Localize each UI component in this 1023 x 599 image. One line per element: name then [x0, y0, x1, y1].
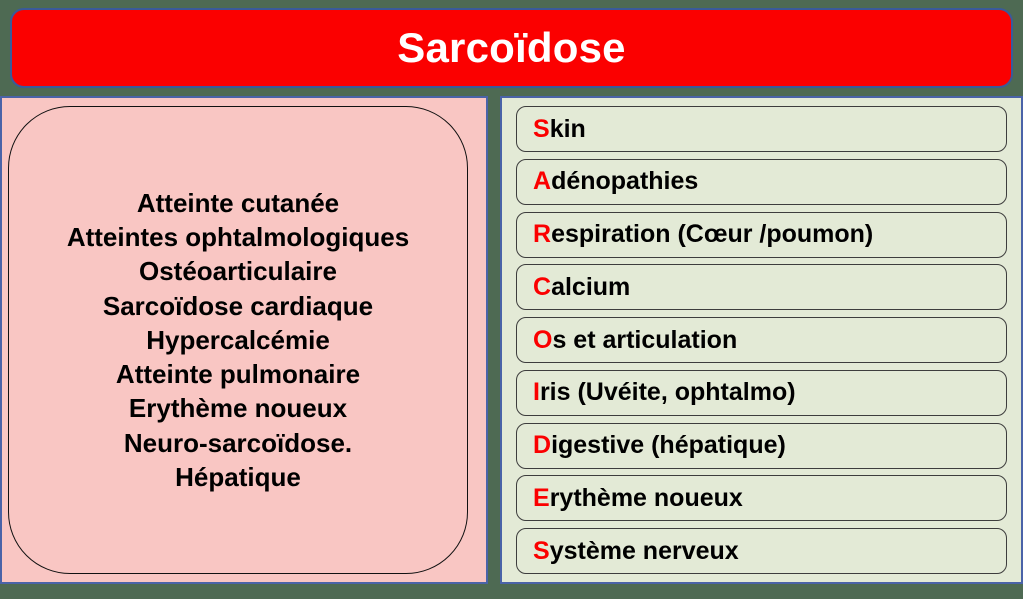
mnemonic-rest: kin — [550, 115, 586, 143]
mnemonic-rest: rythème noueux — [550, 484, 743, 512]
list-item: Atteinte pulmonaire — [116, 357, 360, 391]
mnemonic-label: Digestive (hépatique) — [533, 433, 786, 458]
symptoms-list: Atteinte cutanée Atteintes ophtalmologiq… — [2, 98, 486, 582]
mnemonic-item-skin: Skin — [516, 106, 1007, 152]
list-item: Ostéoarticulaire — [139, 254, 337, 288]
mnemonic-label: Respiration (Cœur /poumon) — [533, 222, 873, 247]
mnemonic-initial: A — [533, 167, 551, 195]
mnemonic-label: Système nerveux — [533, 539, 739, 564]
symptoms-panel: Atteinte cutanée Atteintes ophtalmologiq… — [0, 96, 488, 584]
list-item: Sarcoïdose cardiaque — [103, 289, 373, 323]
mnemonic-label: Os et articulation — [533, 328, 737, 353]
mnemonic-rest: espiration (Cœur /poumon) — [551, 220, 873, 248]
slide: Sarcoïdose Atteinte cutanée Atteintes op… — [0, 0, 1023, 599]
mnemonic-initial: S — [533, 115, 550, 143]
mnemonic-rest: ystème nerveux — [550, 537, 739, 565]
mnemonic-initial: C — [533, 273, 551, 301]
mnemonic-label: Adénopathies — [533, 169, 698, 194]
mnemonic-rest: ris (Uvéite, ophtalmo) — [540, 378, 796, 406]
mnemonic-item-systeme-nerveux: Système nerveux — [516, 528, 1007, 574]
mnemonic-initial: R — [533, 220, 551, 248]
mnemonic-item-iris: Iris (Uvéite, ophtalmo) — [516, 370, 1007, 416]
list-item: Atteinte cutanée — [137, 186, 339, 220]
list-item: Atteintes ophtalmologiques — [67, 220, 409, 254]
mnemonic-label: Skin — [533, 117, 586, 142]
mnemonic-item-erytheme: Erythème noueux — [516, 475, 1007, 521]
page-title: Sarcoïdose — [397, 27, 625, 69]
mnemonic-initial: D — [533, 431, 551, 459]
mnemonic-rest: igestive (hépatique) — [551, 431, 786, 459]
mnemonic-item-os: Os et articulation — [516, 317, 1007, 363]
mnemonic-item-respiration: Respiration (Cœur /poumon) — [516, 212, 1007, 258]
list-item: Hypercalcémie — [146, 323, 330, 357]
list-item: Hépatique — [175, 460, 301, 494]
mnemonic-rest: s et articulation — [552, 326, 737, 354]
mnemonic-item-digestive: Digestive (hépatique) — [516, 423, 1007, 469]
title-banner: Sarcoïdose — [10, 8, 1013, 88]
mnemonic-initial: S — [533, 537, 550, 565]
mnemonic-item-calcium: Calcium — [516, 264, 1007, 310]
list-item: Neuro-sarcoïdose. — [124, 426, 352, 460]
mnemonic-initial: I — [533, 378, 540, 406]
mnemonic-panel: Skin Adénopathies Respiration (Cœur /pou… — [500, 96, 1023, 584]
mnemonic-label: Calcium — [533, 275, 630, 300]
mnemonic-item-adenopathies: Adénopathies — [516, 159, 1007, 205]
list-item: Erythème noueux — [129, 391, 347, 425]
mnemonic-label: Erythème noueux — [533, 486, 743, 511]
mnemonic-initial: E — [533, 484, 550, 512]
mnemonic-initial: O — [533, 326, 552, 354]
mnemonic-rest: alcium — [551, 273, 630, 301]
mnemonic-rest: dénopathies — [551, 167, 698, 195]
mnemonic-label: Iris (Uvéite, ophtalmo) — [533, 380, 796, 405]
